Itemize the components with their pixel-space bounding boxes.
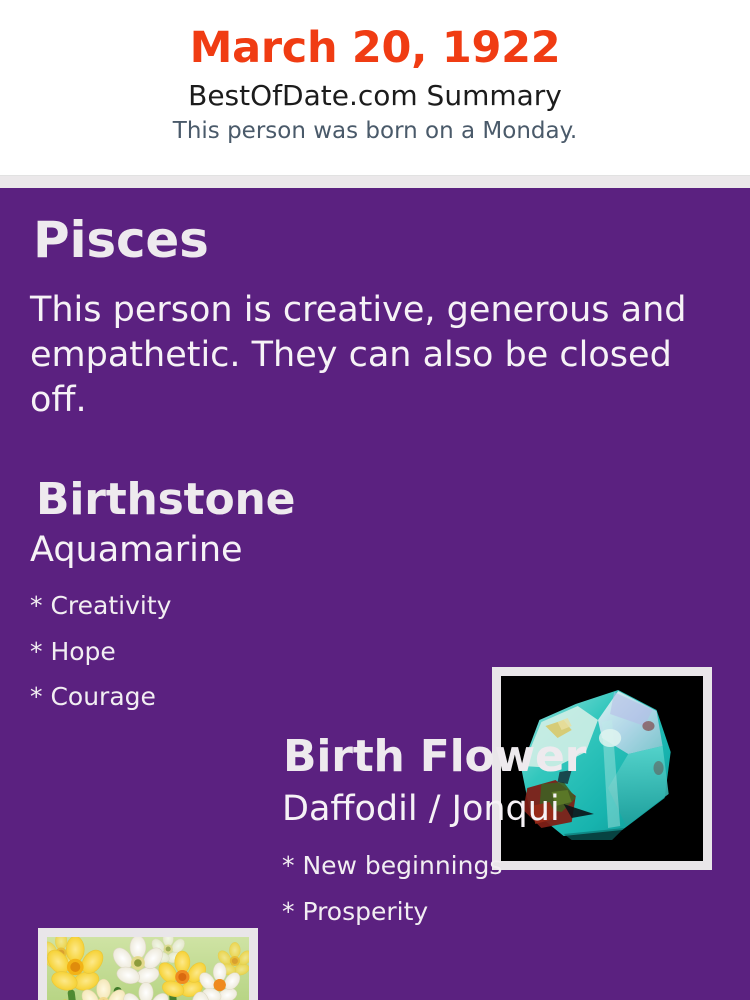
birth-date-summary-card: March 20, 1922 BestOfDate.com Summary Th… bbox=[0, 0, 750, 1000]
list-item: * Courage bbox=[30, 674, 171, 720]
birthstone-name: Aquamarine bbox=[30, 533, 243, 568]
site-name-summary: BestOfDate.com Summary bbox=[0, 71, 750, 112]
header-divider bbox=[0, 175, 750, 188]
birth-flower-name: Daffodil / Jonqui bbox=[282, 792, 560, 827]
daffodil-field-photo bbox=[47, 937, 249, 1000]
list-item: * Creativity bbox=[30, 583, 171, 629]
list-item: * Prosperity bbox=[282, 889, 502, 935]
birth-flower-image-frame bbox=[38, 928, 258, 1000]
birthstone-heading: Birthstone bbox=[36, 478, 295, 522]
page-title-date: March 20, 1922 bbox=[0, 0, 750, 71]
zodiac-sign-title: Pisces bbox=[33, 215, 209, 265]
main-panel: Pisces This person is creative, generous… bbox=[0, 188, 750, 1000]
zodiac-description: This person is creative, generous and em… bbox=[30, 288, 710, 422]
list-item: * Hope bbox=[30, 629, 171, 675]
born-day-note: This person was born on a Monday. bbox=[0, 112, 750, 144]
birthstone-trait-list: * Creativity * Hope * Courage bbox=[30, 583, 171, 720]
daffodil-field-icon bbox=[47, 937, 249, 1000]
birth-flower-trait-list: * New beginnings * Prosperity bbox=[282, 843, 502, 934]
header: March 20, 1922 BestOfDate.com Summary Th… bbox=[0, 0, 750, 175]
list-item: * New beginnings bbox=[282, 843, 502, 889]
birth-flower-heading: Birth Flower bbox=[283, 735, 586, 779]
